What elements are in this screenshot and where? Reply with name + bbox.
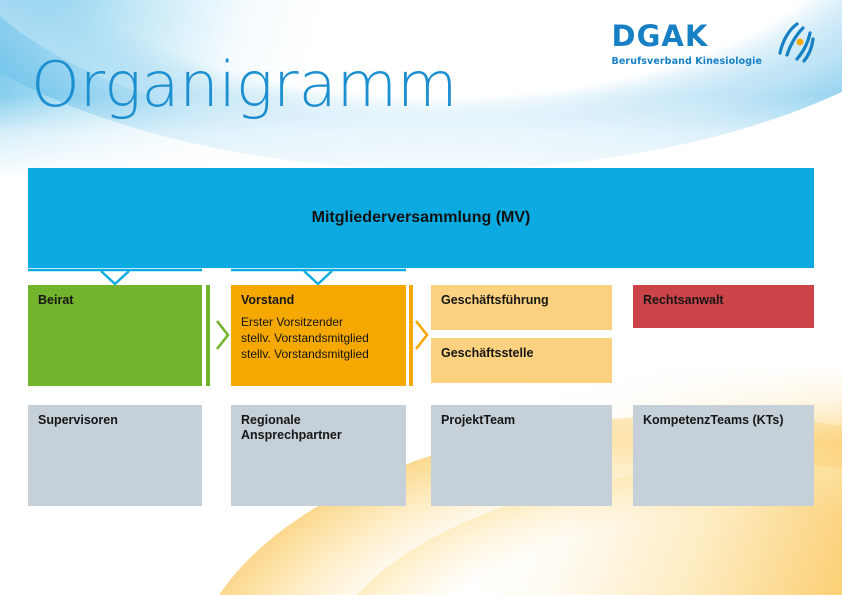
node-label: Geschäftsstelle bbox=[441, 346, 602, 361]
node-supervisoren[interactable]: Supervisoren bbox=[28, 405, 202, 506]
node-label: KompetenzTeams (KTs) bbox=[643, 413, 804, 428]
organigramm-chart: Mitgliederversammlung (MV) Beirat Vorsta… bbox=[0, 0, 842, 595]
connector-bar-orange bbox=[409, 285, 413, 386]
connector-beirat-to-vorstand-chevron-right-icon bbox=[203, 285, 231, 386]
node-rechtsanwalt[interactable]: Rechtsanwalt bbox=[633, 285, 814, 328]
node-regionale-ansprechpartner[interactable]: Regionale Ansprechpartner bbox=[231, 405, 406, 506]
node-detail: Erster Vorsitzender stellv. Vorstandsmit… bbox=[241, 315, 396, 363]
slide: Organigramm DGAK Berufsverband Kinesiolo… bbox=[0, 0, 842, 595]
connector-mv-to-vorstand-chevron-down-icon bbox=[231, 268, 406, 285]
connector-bar-green bbox=[206, 285, 210, 386]
node-label: Geschäftsführung bbox=[441, 293, 602, 308]
node-label: Rechtsanwalt bbox=[643, 293, 804, 308]
connector-vorstand-to-geschaeftsfuehrung-chevron-right-icon bbox=[407, 285, 431, 386]
node-label: Beirat bbox=[38, 293, 192, 308]
node-label: ProjektTeam bbox=[441, 413, 602, 428]
node-geschaeftsfuehrung[interactable]: Geschäftsführung bbox=[431, 285, 612, 330]
node-projektteam[interactable]: ProjektTeam bbox=[431, 405, 612, 506]
node-label: Supervisoren bbox=[38, 413, 192, 428]
node-beirat[interactable]: Beirat bbox=[28, 285, 202, 386]
node-mitgliederversammlung[interactable]: Mitgliederversammlung (MV) bbox=[28, 168, 814, 268]
connector-mv-to-beirat-chevron-down-icon bbox=[28, 268, 202, 285]
node-vorstand[interactable]: Vorstand Erster Vorsitzender stellv. Vor… bbox=[231, 285, 406, 386]
node-label: Regionale Ansprechpartner bbox=[241, 413, 396, 444]
node-geschaeftsstelle[interactable]: Geschäftsstelle bbox=[431, 338, 612, 383]
node-kompetenzteams[interactable]: KompetenzTeams (KTs) bbox=[633, 405, 814, 506]
node-label: Vorstand bbox=[241, 293, 396, 308]
node-label: Mitgliederversammlung (MV) bbox=[312, 208, 531, 228]
